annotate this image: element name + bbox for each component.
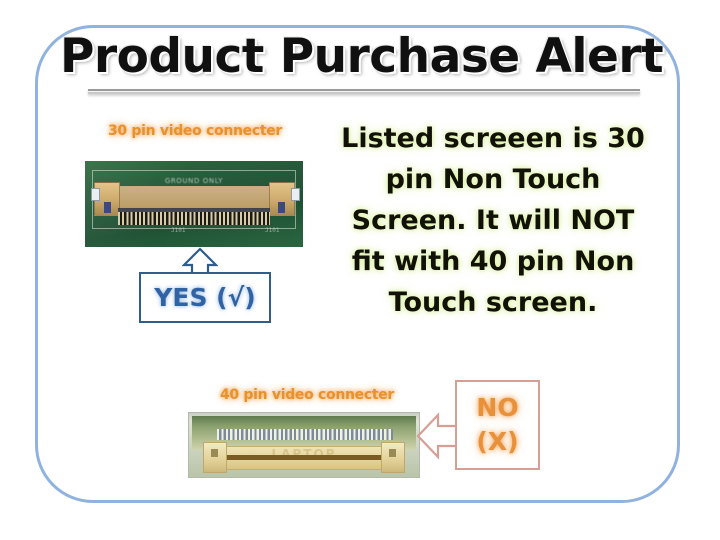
no-label-line2: (X) <box>476 425 518 459</box>
yes-verdict-box: YES (√) <box>139 272 271 323</box>
connector-screw-right <box>278 202 285 213</box>
up-arrow-icon <box>182 247 218 275</box>
connector-slot-40 <box>225 455 385 460</box>
message-line-2: pin Non Touch <box>333 159 653 200</box>
connector-screw-left <box>104 202 111 213</box>
message-line-5: Touch screen. <box>333 282 653 323</box>
connector-end-left-40 <box>203 442 227 473</box>
silkscreen-label-left: J101 <box>171 227 185 234</box>
title-block: Product Purchase Alert <box>60 30 660 108</box>
caption-30-pin-connector: 30 pin video connecter <box>85 123 305 139</box>
no-label-line1: NO <box>476 391 518 425</box>
connector-tab-right <box>291 188 300 201</box>
message-line-4: fit with 40 pin Non <box>333 241 653 282</box>
no-verdict-box: NO (X) <box>455 380 540 470</box>
page-title: Product Purchase Alert <box>60 30 660 84</box>
message-line-3: Screen. It will NOT <box>333 200 653 241</box>
caption-40-pin-connector: 40 pin video connecter <box>192 387 422 403</box>
yes-label: YES (√) <box>154 283 255 312</box>
main-message: Listed screeen is 30 pin Non Touch Scree… <box>333 118 653 323</box>
left-arrow-icon <box>416 405 460 467</box>
connector-dot-left-40 <box>211 449 218 457</box>
title-underline <box>88 89 640 94</box>
silkscreen-label-right: J101 <box>265 227 279 234</box>
connector-pin-teeth <box>118 212 270 225</box>
connector-pin-teeth-40 <box>217 429 393 440</box>
connector-tab-left <box>91 188 100 201</box>
connector-end-right-40 <box>381 442 405 473</box>
connector-dot-right-40 <box>389 449 396 457</box>
message-line-1: Listed screeen is 30 <box>333 118 653 159</box>
connector-photo-40-pin: LAPTOP <box>188 412 420 478</box>
connector-photo-30-pin: GROUND ONLY J101 J101 <box>85 161 303 247</box>
